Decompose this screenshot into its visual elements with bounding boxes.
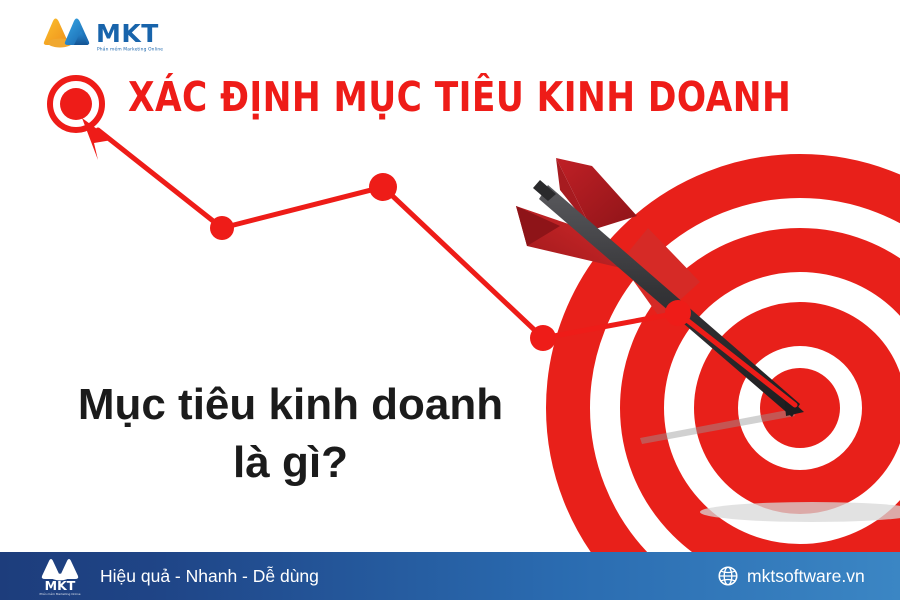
trend-polyline (98, 130, 795, 405)
trend-arrowhead (82, 118, 112, 160)
endpoint-ring-marker (50, 78, 102, 130)
footer-logo-tagline: Phần mềm Marketing Online (39, 592, 80, 596)
subtitle-line-1: Mục tiêu kinh doanh (78, 380, 503, 429)
subtitle: Mục tiêu kinh doanh là gì? (18, 376, 563, 492)
data-point-dot (210, 216, 234, 240)
mkt-logo-footer: MKT Phần mềm Marketing Online (34, 556, 86, 596)
globe-icon (718, 566, 738, 586)
data-point-dot (665, 300, 691, 326)
trend-line-chart (0, 0, 900, 600)
infographic-canvas: MKT Phần mềm Marketing Online XÁC ĐỊNH M… (0, 0, 900, 600)
data-point-dot (530, 325, 556, 351)
subtitle-line-2: là gì? (18, 434, 563, 492)
footer-tagline: Hiệu quả - Nhanh - Dễ dùng (100, 566, 319, 587)
footer-website[interactable]: mktsoftware.vn (718, 566, 865, 587)
data-point-dot (369, 173, 397, 201)
footer-website-label: mktsoftware.vn (747, 566, 865, 587)
footer-bar: MKT Phần mềm Marketing Online Hiệu quả -… (0, 552, 900, 600)
footer-logo-wordmark: MKT (45, 578, 76, 593)
